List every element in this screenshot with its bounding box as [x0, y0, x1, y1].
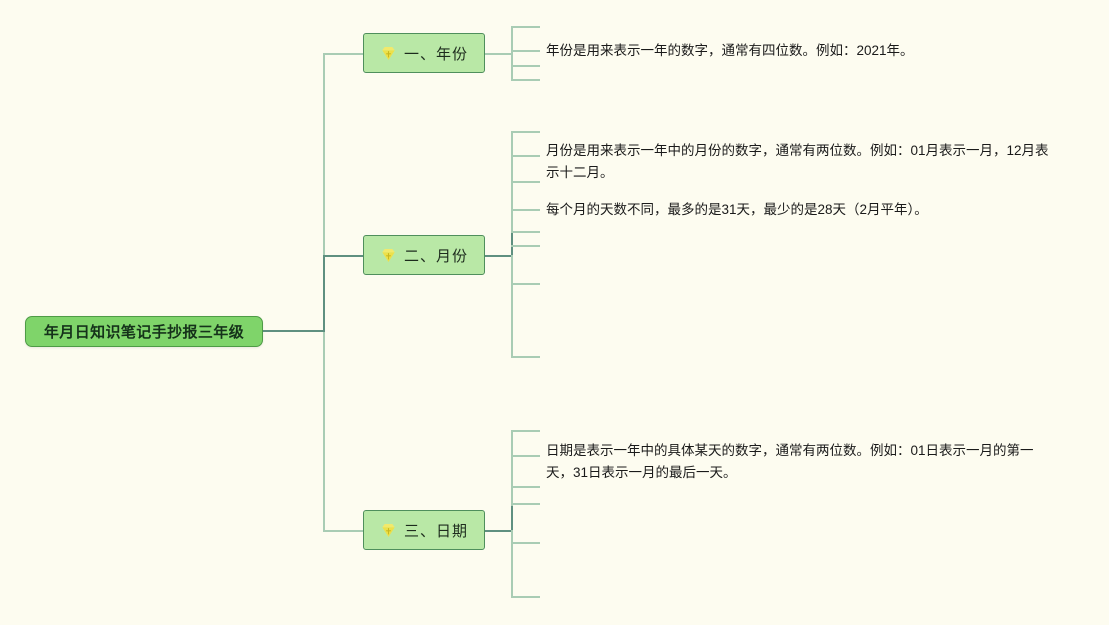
root-node-label: 年月日知识笔记手抄报三年级	[44, 321, 244, 342]
branch-2-out-connector	[485, 255, 513, 257]
gem-icon	[380, 247, 397, 264]
gem-icon	[380, 45, 397, 62]
branch-1-out-connector	[485, 53, 513, 55]
leaf-text-1-0: 年份是用来表示一年的数字，通常有四位数。例如：2021年。	[546, 40, 966, 62]
trunk-arm-branch-1	[323, 53, 363, 55]
branch-3-stub-empty-2	[511, 503, 540, 505]
leaf-text-2-0: 月份是用来表示一年中的月份的数字，通常有两位数。例如：01月表示一月，12月表示…	[546, 140, 1051, 184]
branch-2-stub-empty-3	[511, 245, 540, 247]
branch-2-stub-leaf-0	[511, 155, 540, 157]
branch-3-subspine-mid	[511, 506, 513, 532]
branch-3-subspine-lower	[511, 530, 513, 598]
branch-node-3-label: 三、日期	[404, 520, 468, 541]
branch-node-1[interactable]: 一、年份	[363, 33, 485, 73]
branch-3-stub-empty-4	[511, 596, 540, 598]
branch-3-subspine-upper	[511, 430, 513, 506]
branch-2-subspine-mid	[511, 231, 513, 257]
trunk-spine-upper	[323, 53, 325, 255]
branch-2-stub-empty-0	[511, 131, 540, 133]
branch-3-stub-empty-3	[511, 542, 540, 544]
mindmap-canvas[interactable]: 年月日知识笔记手抄报三年级 一、年份 年份是用来表示一年的数字，通常有四位数。例…	[0, 0, 1109, 625]
branch-3-stub-empty-0	[511, 430, 540, 432]
branch-node-2-label: 二、月份	[404, 245, 468, 266]
trunk-horizontal-connector	[263, 330, 325, 332]
branch-1-stub-empty-0	[511, 26, 540, 28]
branch-1-subspine	[511, 26, 513, 81]
branch-3-stub-leaf-0	[511, 455, 540, 457]
trunk-spine-lower	[323, 332, 325, 531]
trunk-arm-branch-2	[323, 255, 363, 257]
trunk-spine-mid	[323, 255, 325, 332]
branch-node-2[interactable]: 二、月份	[363, 235, 485, 275]
leaf-text-3-0: 日期是表示一年中的具体某天的数字，通常有两位数。例如：01日表示一月的第一天，3…	[546, 440, 1046, 484]
leaf-text-2-1: 每个月的天数不同，最多的是31天，最少的是28天（2月平年）。	[546, 199, 1026, 221]
branch-1-stub-leaf-0	[511, 50, 540, 52]
branch-node-3[interactable]: 三、日期	[363, 510, 485, 550]
branch-2-subspine-lower	[511, 255, 513, 358]
branch-2-stub-leaf-1	[511, 209, 540, 211]
trunk-arm-branch-3	[323, 530, 363, 532]
branch-3-stub-empty-1	[511, 486, 540, 488]
branch-3-out-connector	[485, 530, 513, 532]
branch-2-stub-empty-4	[511, 283, 540, 285]
gem-icon	[380, 522, 397, 539]
branch-2-stub-empty-5	[511, 356, 540, 358]
branch-2-stub-empty-2	[511, 231, 540, 233]
branch-2-stub-empty-1	[511, 181, 540, 183]
branch-1-stub-empty-2	[511, 79, 540, 81]
root-node[interactable]: 年月日知识笔记手抄报三年级	[25, 316, 263, 347]
branch-node-1-label: 一、年份	[404, 43, 468, 64]
branch-1-stub-empty-1	[511, 65, 540, 67]
